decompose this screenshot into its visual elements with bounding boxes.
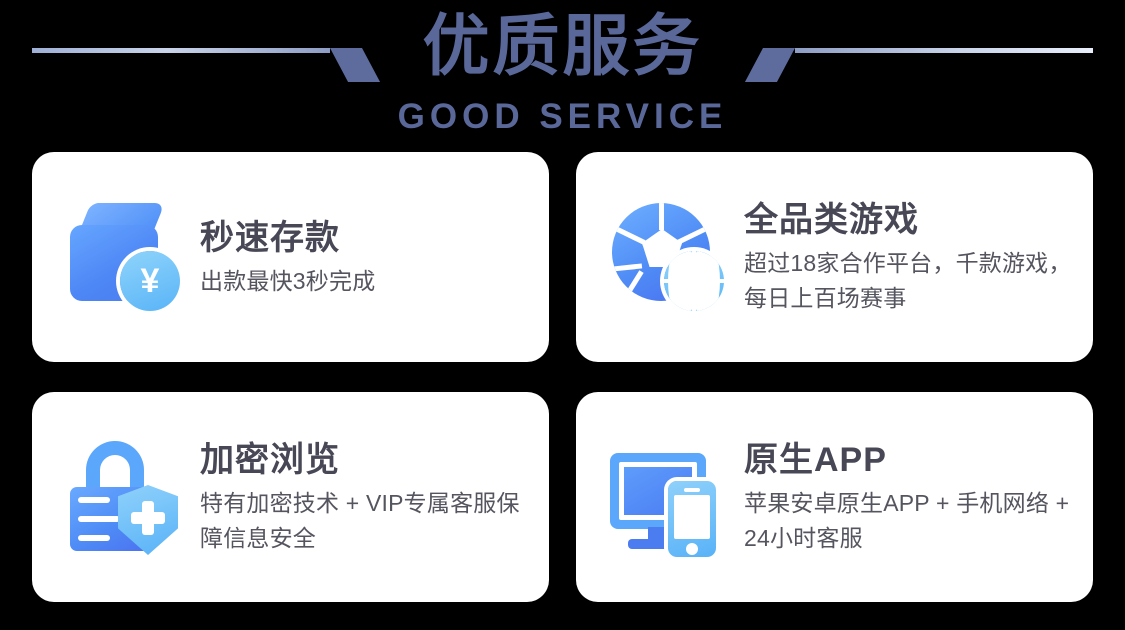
yen-coin-icon: ¥ [120, 251, 180, 311]
feature-card-title: 全品类游戏 [744, 198, 1079, 242]
basketball-icon [664, 251, 724, 311]
wallet-icon: ¥ [62, 195, 186, 319]
feature-card-subtitle: 特有加密技术 + VIP专属客服保障信息安全 [200, 486, 535, 556]
page-title: 优质服务 [0, 6, 1125, 88]
page-subtitle: GOOD SERVICE [0, 96, 1125, 138]
feature-card-encryption[interactable]: 加密浏览 特有加密技术 + VIP专属客服保障信息安全 [32, 392, 549, 602]
feature-card-title: 加密浏览 [200, 438, 535, 482]
feature-card-title: 原生APP [744, 438, 1079, 482]
feature-card-grid: ¥ 秒速存款 出款最快3秒完成 [32, 152, 1093, 602]
feature-card-text: 原生APP 苹果安卓原生APP + 手机网络 + 24小时客服 [744, 438, 1079, 556]
feature-card-subtitle: 出款最快3秒完成 [200, 264, 535, 299]
feature-card-games[interactable]: 全品类游戏 超过18家合作平台，千款游戏，每日上百场赛事 [576, 152, 1093, 362]
feature-card-subtitle: 超过18家合作平台，千款游戏，每日上百场赛事 [744, 246, 1079, 316]
feature-card-text: 加密浏览 特有加密技术 + VIP专属客服保障信息安全 [200, 438, 535, 556]
feature-card-text: 秒速存款 出款最快3秒完成 [200, 216, 535, 299]
service-banner: 优质服务 GOOD SERVICE ¥ 秒速存款 出款最快3秒完成 [0, 0, 1125, 630]
feature-card-title: 秒速存款 [200, 216, 535, 260]
lock-shield-icon [62, 435, 186, 559]
feature-card-text: 全品类游戏 超过18家合作平台，千款游戏，每日上百场赛事 [744, 198, 1079, 316]
banner-header: 优质服务 GOOD SERVICE [0, 0, 1125, 148]
feature-card-subtitle: 苹果安卓原生APP + 手机网络 + 24小时客服 [744, 486, 1079, 556]
feature-card-native-app[interactable]: 原生APP 苹果安卓原生APP + 手机网络 + 24小时客服 [576, 392, 1093, 602]
phone-icon [668, 481, 716, 557]
feature-card-deposit[interactable]: ¥ 秒速存款 出款最快3秒完成 [32, 152, 549, 362]
monitor-phone-icon [606, 435, 730, 559]
soccer-basketball-icon [606, 195, 730, 319]
